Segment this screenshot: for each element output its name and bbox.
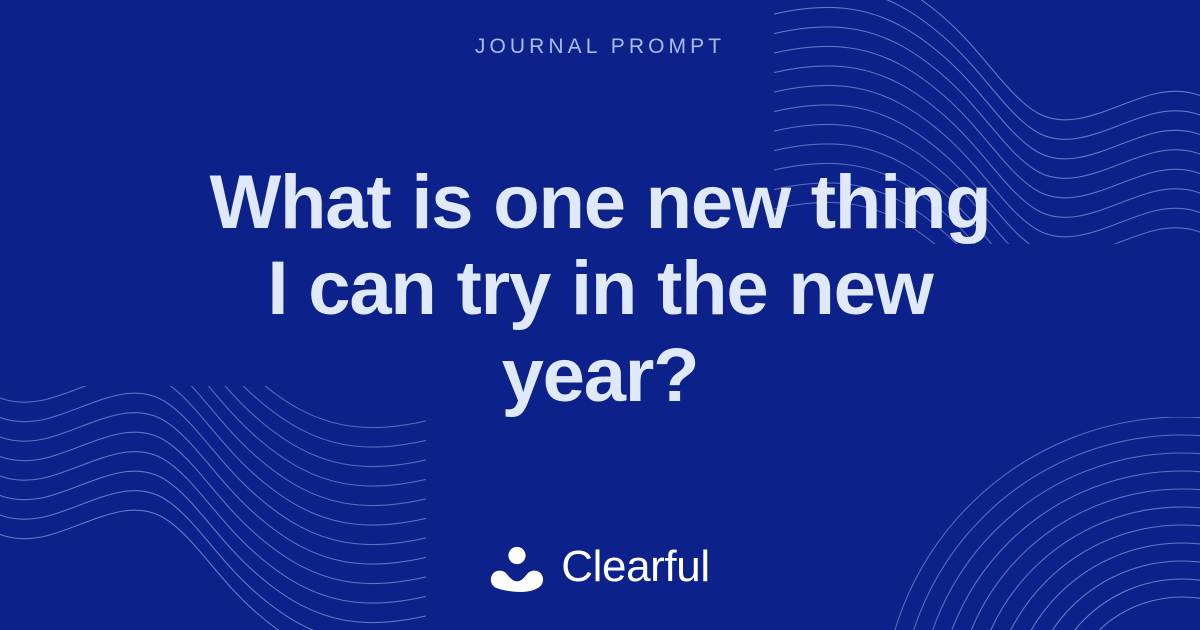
brand-wordmark: Clearful [561,545,709,589]
headline-container: What is one new thing I can try in the n… [0,57,1200,540]
card-content: JOURNAL PROMPT What is one new thing I c… [0,0,1200,630]
brand-logo: Clearful [490,540,709,594]
eyebrow-label: JOURNAL PROMPT [475,36,725,57]
social-card: JOURNAL PROMPT What is one new thing I c… [0,0,1200,630]
person-bowl-icon [490,540,544,594]
page-title: What is one new thing I can try in the n… [205,160,995,420]
